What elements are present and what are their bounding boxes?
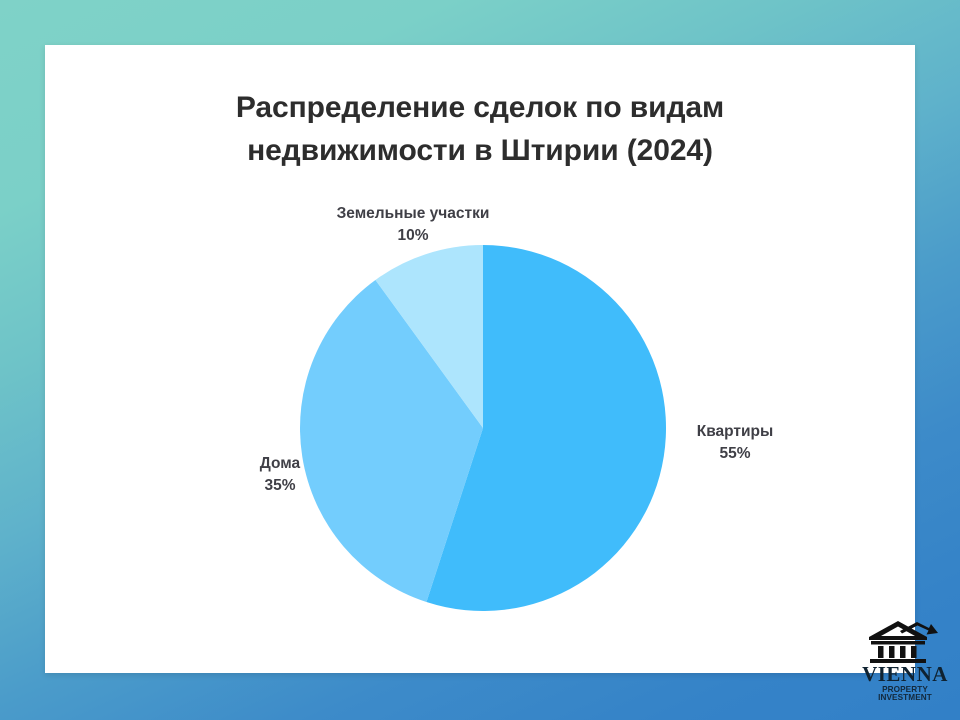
- pie-label-houses-name: Дома: [260, 455, 300, 472]
- pie-chart-svg: [45, 45, 915, 673]
- pie-label-houses-percent: 35%: [200, 475, 360, 497]
- logo-wordmark: VIENNA: [855, 664, 955, 685]
- pie-label-houses: Дома 35%: [200, 453, 360, 497]
- pie-label-apartments-name: Квартиры: [697, 423, 774, 440]
- slide-content-card: Распределение сделок по видам недвижимос…: [45, 45, 915, 673]
- bank-building-icon: [865, 618, 939, 664]
- pie-chart: Земельные участки 10% Квартиры 55% Дома …: [45, 45, 915, 673]
- pie-label-land-name: Земельные участки: [337, 205, 490, 222]
- pie-label-apartments: Квартиры 55%: [645, 421, 825, 465]
- pie-label-land-percent: 10%: [303, 225, 523, 247]
- logo-tagline: PROPERTY INVESTMENT: [855, 686, 955, 702]
- pie-label-apartments-percent: 55%: [645, 443, 825, 465]
- vienna-property-investment-logo: VIENNA PROPERTY INVESTMENT: [855, 618, 955, 700]
- pie-label-land: Земельные участки 10%: [303, 203, 523, 247]
- slide-canvas: Распределение сделок по видам недвижимос…: [0, 0, 960, 720]
